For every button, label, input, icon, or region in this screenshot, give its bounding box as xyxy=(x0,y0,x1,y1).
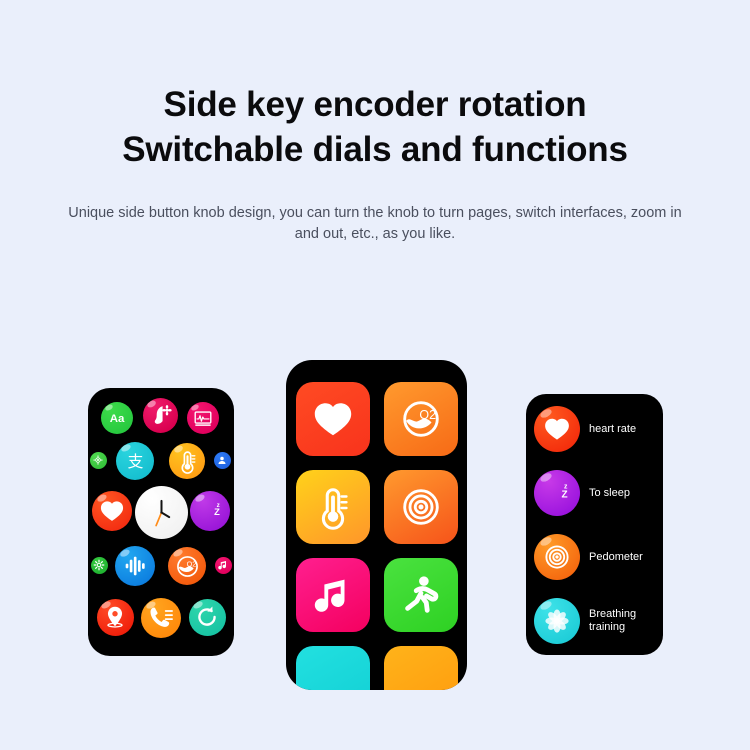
app-tile-exercise[interactable] xyxy=(384,558,458,632)
app-icon-alipay[interactable]: 支 xyxy=(116,442,154,480)
target-rings-icon xyxy=(534,534,580,580)
app-icon-temperature[interactable] xyxy=(169,443,205,479)
svg-text:Z: Z xyxy=(561,489,567,500)
list-item-label: heart rate xyxy=(589,423,636,436)
app-icon-ecg[interactable] xyxy=(187,402,219,434)
svg-text:O2: O2 xyxy=(419,408,436,422)
refresh-icon xyxy=(189,599,226,636)
watch-right-list: heart ratezZTo sleepPedometerBreathing t… xyxy=(526,394,663,655)
app-tile-blood-oxygen[interactable]: O2 xyxy=(384,382,458,456)
list-item-heart-rate[interactable]: heart rate xyxy=(534,406,659,452)
app-icon-voice-recorder[interactable] xyxy=(115,546,155,586)
app-icon-sleep[interactable]: zZ xyxy=(190,491,230,531)
svg-text:支: 支 xyxy=(127,452,143,471)
gear-icon xyxy=(91,557,108,574)
thermometer-icon xyxy=(169,443,205,479)
app-icon-restart[interactable] xyxy=(189,599,226,636)
list-item-to-sleep[interactable]: zZTo sleep xyxy=(534,470,659,516)
ecg-monitor-icon xyxy=(187,402,219,434)
moon-sleep-icon: zZ xyxy=(190,491,230,531)
audio-waveform-icon xyxy=(115,546,155,586)
list-item-label: Pedometer xyxy=(589,551,643,564)
app-tile-music[interactable] xyxy=(296,558,370,632)
target-rings-icon xyxy=(398,484,444,530)
watch-left-honeycomb: Aa支zZO2 xyxy=(88,388,234,656)
app-icon-weather-small[interactable] xyxy=(90,452,107,469)
o2-icon: O2 xyxy=(398,396,444,442)
svg-text:Aa: Aa xyxy=(110,413,125,425)
beauty-face-icon xyxy=(143,398,178,433)
analog-clock-icon xyxy=(135,486,188,539)
app-tile-pedometer[interactable] xyxy=(384,470,458,544)
app-icon-settings-small[interactable] xyxy=(91,557,108,574)
app-icon-heart-rate[interactable] xyxy=(92,491,132,531)
app-icon-location[interactable] xyxy=(97,599,134,636)
app-icon-contacts-small[interactable] xyxy=(214,452,231,469)
weather-small-icon xyxy=(90,452,107,469)
thermometer-icon xyxy=(310,484,356,530)
app-icon-font-size[interactable]: Aa xyxy=(101,402,133,434)
music-note-icon xyxy=(215,557,232,574)
heart-icon xyxy=(310,396,356,442)
app-tile-temperature[interactable] xyxy=(296,470,370,544)
moon-sleep-icon: zZ xyxy=(534,470,580,516)
phone-call-icon xyxy=(141,598,181,638)
contact-person-icon xyxy=(214,452,231,469)
app-icon-beauty[interactable] xyxy=(143,398,178,433)
exercise-icon xyxy=(398,572,444,618)
music-note-icon xyxy=(310,572,356,618)
o2-icon: O2 xyxy=(168,547,206,585)
svg-text:Z: Z xyxy=(214,507,220,517)
watch-center-tiles: O2 xyxy=(286,360,467,690)
heart-icon xyxy=(92,491,132,531)
svg-text:O2: O2 xyxy=(186,559,196,568)
list-item-pedometer[interactable]: Pedometer xyxy=(534,534,659,580)
list-item-breathing[interactable]: Breathing training xyxy=(534,598,659,644)
app-icon-watch-face[interactable] xyxy=(135,486,188,539)
location-pin-icon xyxy=(97,599,134,636)
app-icon-music-small[interactable] xyxy=(215,557,232,574)
app-tile-heart-rate[interactable] xyxy=(296,382,370,456)
heart-icon xyxy=(534,406,580,452)
app-tile-clipped-right[interactable] xyxy=(384,646,458,690)
list-item-label: Breathing training xyxy=(589,608,659,634)
app-icon-blood-oxygen[interactable]: O2 xyxy=(168,547,206,585)
devices-stage: Aa支zZO2 O2 heart ratezZTo sleepPedometer… xyxy=(0,0,750,750)
alipay-icon: 支 xyxy=(116,442,154,480)
list-item-label: To sleep xyxy=(589,487,630,500)
flower-breath-icon xyxy=(534,598,580,644)
app-icon-phone[interactable] xyxy=(141,598,181,638)
aa-text-icon: Aa xyxy=(101,402,133,434)
app-tile-clipped-left[interactable] xyxy=(296,646,370,690)
